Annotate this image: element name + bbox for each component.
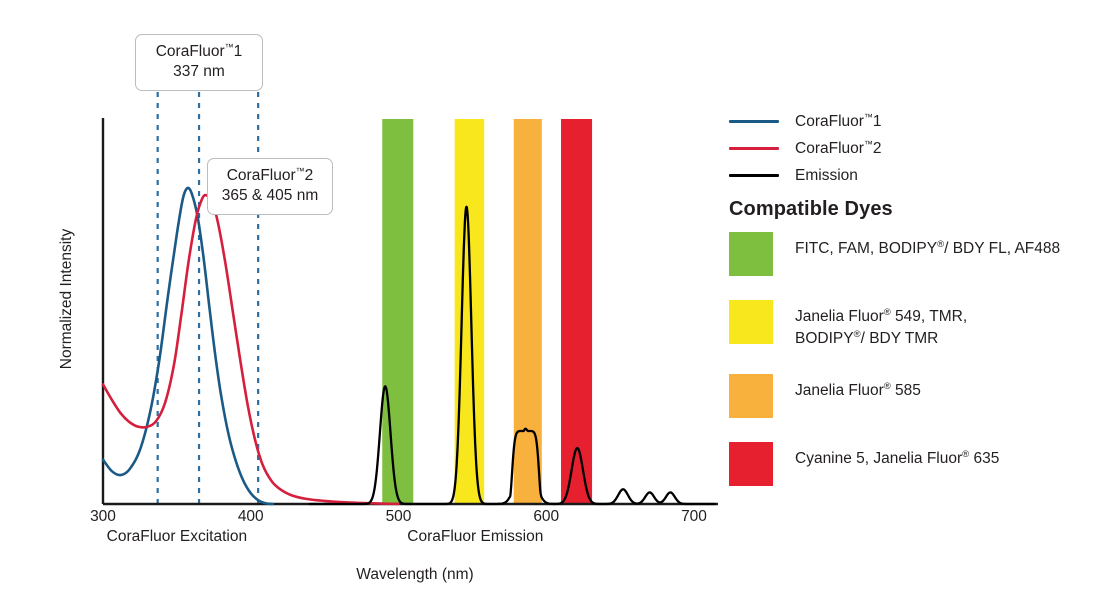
series-legend: CoraFluor™1CoraFluor™2Emission — [729, 108, 1099, 189]
compatible-dyes-list: FITC, FAM, BODIPY®/ BDY FL, AF488Janelia… — [729, 232, 1104, 510]
x-tick-700: 700 — [659, 508, 729, 526]
dye-item-label: FITC, FAM, BODIPY®/ BDY FL, AF488 — [795, 232, 1060, 260]
legend-item-0[interactable]: CoraFluor™1 — [729, 108, 1099, 135]
x-tick-300: 300 — [68, 508, 138, 526]
dye-item-2[interactable]: Janelia Fluor® 585 — [729, 374, 1104, 418]
callout-cf1-line1: CoraFluor™1 — [148, 42, 250, 62]
dye-item-label: Janelia Fluor® 549, TMR,BODIPY®/ BDY TMR — [795, 300, 967, 350]
excitation-region-label: CoraFluor Excitation — [67, 528, 287, 546]
emission-region-label: CoraFluor Emission — [365, 528, 585, 546]
curve-corafluor-1 — [103, 188, 273, 504]
legend-line-swatch — [729, 174, 779, 177]
dye-item-label: Janelia Fluor® 585 — [795, 374, 921, 402]
yellow-band — [455, 119, 485, 504]
callout-cf1-line2: 337 nm — [148, 62, 250, 82]
x-tick-500: 500 — [364, 508, 434, 526]
legend-item-label: CoraFluor™2 — [795, 139, 882, 158]
legend-line-swatch — [729, 147, 779, 150]
legend-item-2[interactable]: Emission — [729, 162, 1099, 189]
callout-corafluor-1: CoraFluor™1 337 nm — [135, 34, 263, 91]
dye-color-swatch — [729, 300, 773, 344]
legend-item-label: Emission — [795, 167, 858, 185]
callout-corafluor-2: CoraFluor™2 365 & 405 nm — [207, 158, 333, 215]
callout-cf2-line1: CoraFluor™2 — [220, 166, 320, 186]
dye-color-swatch — [729, 442, 773, 486]
filter-bands-layer — [382, 119, 592, 504]
x-tick-600: 600 — [511, 508, 581, 526]
compatible-dyes-title: Compatible Dyes — [729, 198, 893, 221]
green-band — [382, 119, 413, 504]
legend-line-swatch — [729, 120, 779, 123]
callout-cf2-line2: 365 & 405 nm — [220, 186, 320, 206]
red-band — [561, 119, 592, 504]
dye-item-3[interactable]: Cyanine 5, Janelia Fluor® 635 — [729, 442, 1104, 486]
curve-emission — [310, 207, 715, 504]
legend-item-1[interactable]: CoraFluor™2 — [729, 135, 1099, 162]
x-tick-400: 400 — [216, 508, 286, 526]
y-axis-title: Normalized Intensity — [58, 209, 76, 389]
legend-item-label: CoraFluor™1 — [795, 112, 882, 131]
dye-item-1[interactable]: Janelia Fluor® 549, TMR,BODIPY®/ BDY TMR — [729, 300, 1104, 350]
curve-corafluor-2 — [103, 195, 399, 504]
dye-item-label: Cyanine 5, Janelia Fluor® 635 — [795, 442, 999, 470]
dye-item-0[interactable]: FITC, FAM, BODIPY®/ BDY FL, AF488 — [729, 232, 1104, 276]
spectra-figure: CoraFluor™1 337 nm CoraFluor™2 365 & 405… — [0, 0, 1110, 612]
dye-color-swatch — [729, 374, 773, 418]
dye-color-swatch — [729, 232, 773, 276]
x-axis-title: Wavelength (nm) — [290, 566, 540, 584]
